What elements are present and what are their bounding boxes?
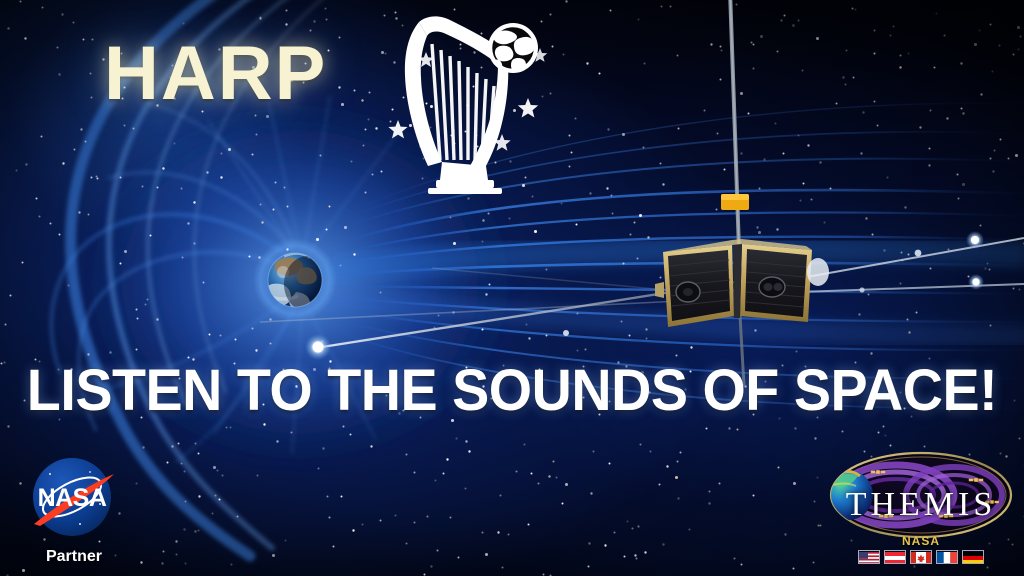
nasa-partner-caption: Partner xyxy=(20,548,128,566)
themis-mission-logo: THEMIS NASA xyxy=(826,450,1016,572)
themis-logo-graphic xyxy=(826,450,1016,550)
flag-canada xyxy=(910,550,932,564)
flag-austria xyxy=(884,550,906,564)
headline-text: LISTEN TO THE SOUNDS OF SPACE! xyxy=(20,362,1003,420)
page-title: HARP xyxy=(104,36,327,112)
nasa-meatball-logo: NASA Partner xyxy=(20,452,128,570)
flag-germany xyxy=(962,550,984,564)
harp-poster: HARP LISTEN TO THE SOUNDS OF SPACE! xyxy=(0,0,1024,576)
flag-france xyxy=(936,550,958,564)
partner-flags xyxy=(826,550,1016,564)
nasa-logo-graphic: NASA xyxy=(20,452,128,542)
flag-united-states xyxy=(858,550,880,564)
harp-globe-icon xyxy=(488,23,538,73)
nasa-wordmark: NASA xyxy=(38,484,107,512)
